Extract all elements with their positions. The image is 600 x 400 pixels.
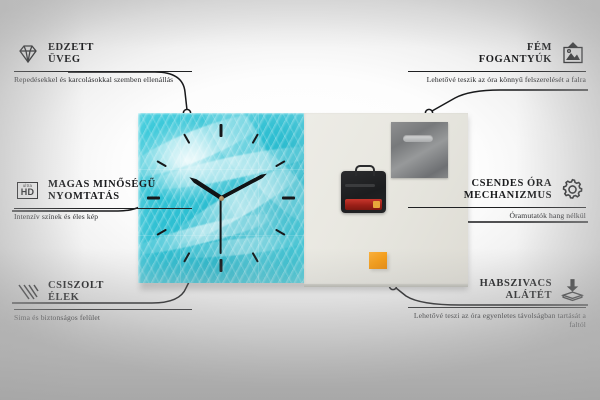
divider: [14, 309, 192, 310]
divider: [14, 208, 192, 209]
feature-metal-handles: FÉMFOGANTYÚK Lehetővé teszik az óra könn…: [408, 40, 586, 84]
gear-icon: [559, 176, 586, 203]
mechanism-slot: [345, 184, 375, 187]
feature-description: Repedésekkel és karcolásokkal szemben el…: [14, 75, 192, 84]
picture-hanger-icon: [559, 40, 586, 67]
feature-tempered-glass: EDZETTÜVEG Repedésekkel és karcolásokkal…: [14, 40, 192, 84]
feature-title: CSENDES ÓRAMECHANIZMUS: [464, 178, 552, 201]
feature-description: Sima és biztonságos felület: [14, 313, 192, 322]
battery: [345, 199, 382, 210]
divider: [408, 307, 586, 308]
feature-title: CSISZOLTÉLEK: [48, 280, 104, 303]
feature-description: Lehetővé teszik az óra könnyű felszerelé…: [408, 75, 586, 84]
clock-center-cap: [219, 196, 224, 201]
second-hand: [220, 198, 222, 254]
divider: [14, 71, 192, 72]
battery-plus-terminal: [373, 201, 380, 208]
divider: [408, 207, 586, 208]
hanger-slot: [403, 135, 433, 142]
mechanism-loop: [355, 165, 375, 176]
clock-mechanism: [341, 171, 386, 213]
feature-silent-mechanism: CSENDES ÓRAMECHANIZMUS Óramutatók hang n…: [408, 176, 586, 220]
feature-title: HABSZIVACSALÁTÉT: [480, 278, 552, 301]
ultra-hd-icon: ultra HD: [14, 177, 41, 204]
feature-description: Óramutatók hang nélkül: [408, 211, 586, 220]
infographic-canvas: EDZETTÜVEG Repedésekkel és karcolásokkal…: [0, 0, 600, 400]
metal-hanger: [391, 122, 448, 178]
divider: [408, 71, 586, 72]
polished-edges-icon: [14, 278, 41, 305]
feature-description: Lehetővé teszi az óra egyenletes távolsá…: [408, 311, 586, 330]
feature-polished-edges: CSISZOLTÉLEK Sima és biztonságos felület: [14, 278, 192, 322]
feature-title: MAGAS MINŐSÉGŰNYOMTATÁS: [48, 179, 156, 202]
foam-pad: [369, 252, 387, 269]
feature-foam-backing: HABSZIVACSALÁTÉT Lehetővé teszi az óra e…: [408, 276, 586, 330]
feature-title: EDZETTÜVEG: [48, 42, 94, 65]
feature-high-quality-print: ultra HD MAGAS MINŐSÉGŰNYOMTATÁS Intenzí…: [14, 177, 192, 221]
connector-metal-handles: [432, 90, 588, 111]
feature-description: Intenzív színek és éles kép: [14, 212, 192, 221]
foam-pad-icon: [559, 276, 586, 303]
diamond-icon: [14, 40, 41, 67]
feature-title: FÉMFOGANTYÚK: [479, 42, 552, 65]
